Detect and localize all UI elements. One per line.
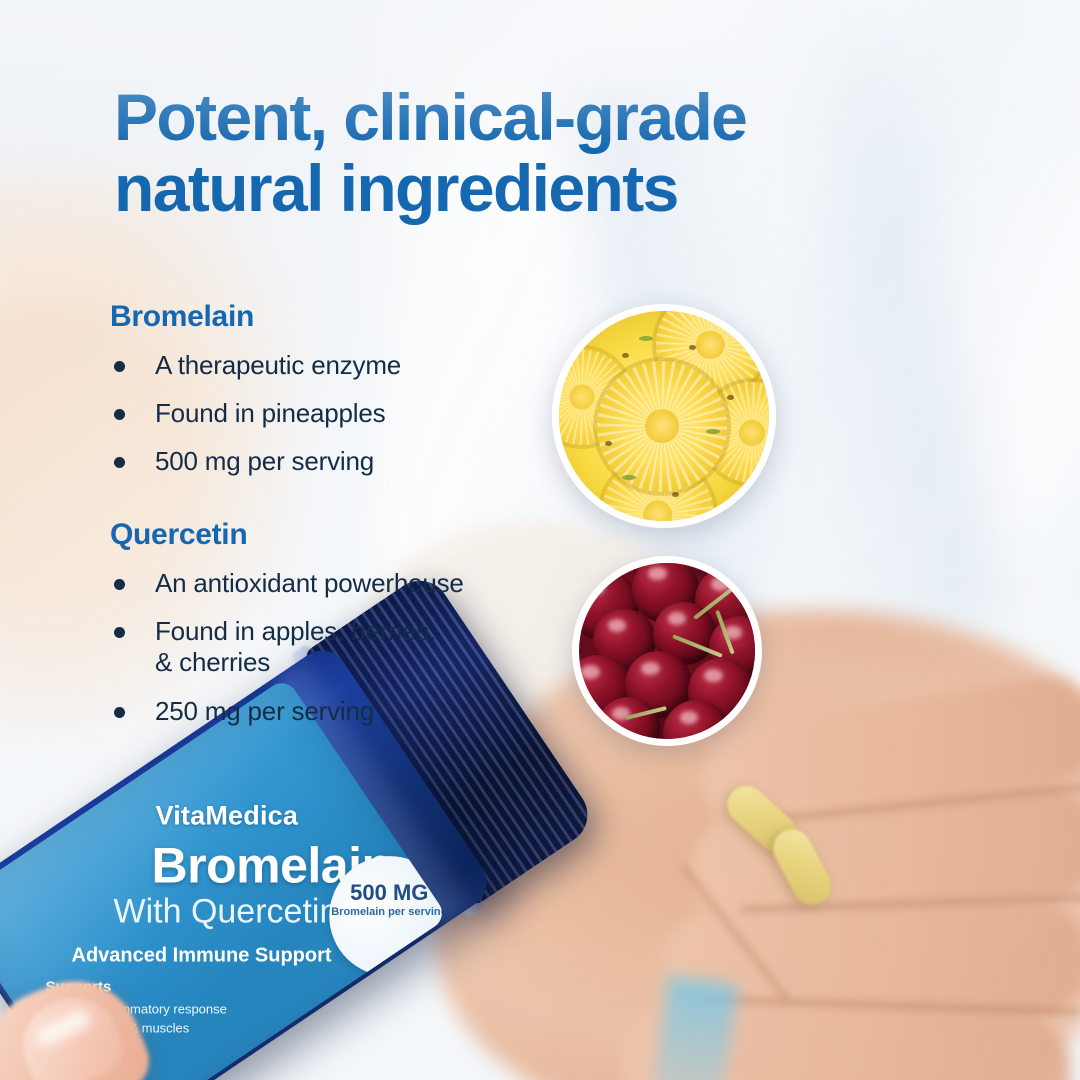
list-item-label: A therapeutic enzyme	[155, 350, 401, 380]
bullet-dot-icon	[114, 409, 125, 420]
product-subtitle: With Quercetin	[114, 893, 339, 932]
list-item: A therapeutic enzyme	[110, 350, 580, 381]
headline-line-1: Potent, clinical-grade	[114, 80, 746, 154]
list-item: 500 mg per serving	[110, 446, 580, 477]
list-item: 250 mg per serving	[110, 696, 580, 727]
brand-logo-text: VitaMedica	[156, 801, 299, 832]
pineapple-leaf	[706, 429, 720, 434]
cherries-image	[579, 563, 755, 739]
dose-label: Bromelain per serving	[329, 906, 448, 919]
product-tagline: Advanced Immune Support	[72, 945, 332, 968]
ingredient-section-bromelain: Bromelain A therapeutic enzyme Found in …	[110, 300, 580, 478]
list-item-label: 500 mg per serving	[155, 446, 374, 476]
cherries-photo	[572, 556, 762, 746]
pineapple-speck	[672, 492, 679, 497]
bullet-dot-icon	[114, 579, 125, 590]
pineapple-speck	[689, 345, 696, 350]
pineapple-slices-photo	[552, 304, 776, 528]
pineapple-image	[559, 311, 769, 521]
section-title: Quercetin	[110, 518, 580, 552]
pineapple-speck	[727, 395, 734, 400]
page-headline: Potent, clinical-grade natural ingredien…	[114, 82, 994, 223]
section-title: Bromelain	[110, 300, 580, 334]
list-item: Found in pineapples	[110, 398, 580, 429]
pineapple-ring	[597, 361, 727, 491]
list-item: Found in apples, berries, & cherries	[110, 616, 580, 678]
bullet-dot-icon	[114, 457, 125, 468]
ingredient-section-quercetin: Quercetin An antioxidant powerhouse Foun…	[110, 518, 580, 727]
product-ingredient-graphic: VitaMedica Bromelain With Quercetin Adva…	[0, 0, 1080, 1080]
pineapple-leaf	[622, 475, 636, 480]
list-item-label: Found in pineapples	[155, 398, 385, 428]
bullet-list: A therapeutic enzyme Found in pineapples…	[110, 350, 580, 478]
bullet-dot-icon	[114, 361, 125, 372]
bullet-dot-icon	[114, 627, 125, 638]
bullet-list: An antioxidant powerhouse Found in apple…	[110, 568, 580, 727]
list-item-label: Found in apples, berries, & cherries	[155, 616, 436, 677]
headline-line-2: natural ingredients	[114, 151, 678, 225]
list-item-label: An antioxidant powerhouse	[155, 568, 464, 598]
list-item: An antioxidant powerhouse	[110, 568, 580, 599]
bullet-dot-icon	[114, 707, 125, 718]
pineapple-speck	[622, 353, 629, 358]
list-item-label: 250 mg per serving	[155, 696, 374, 726]
